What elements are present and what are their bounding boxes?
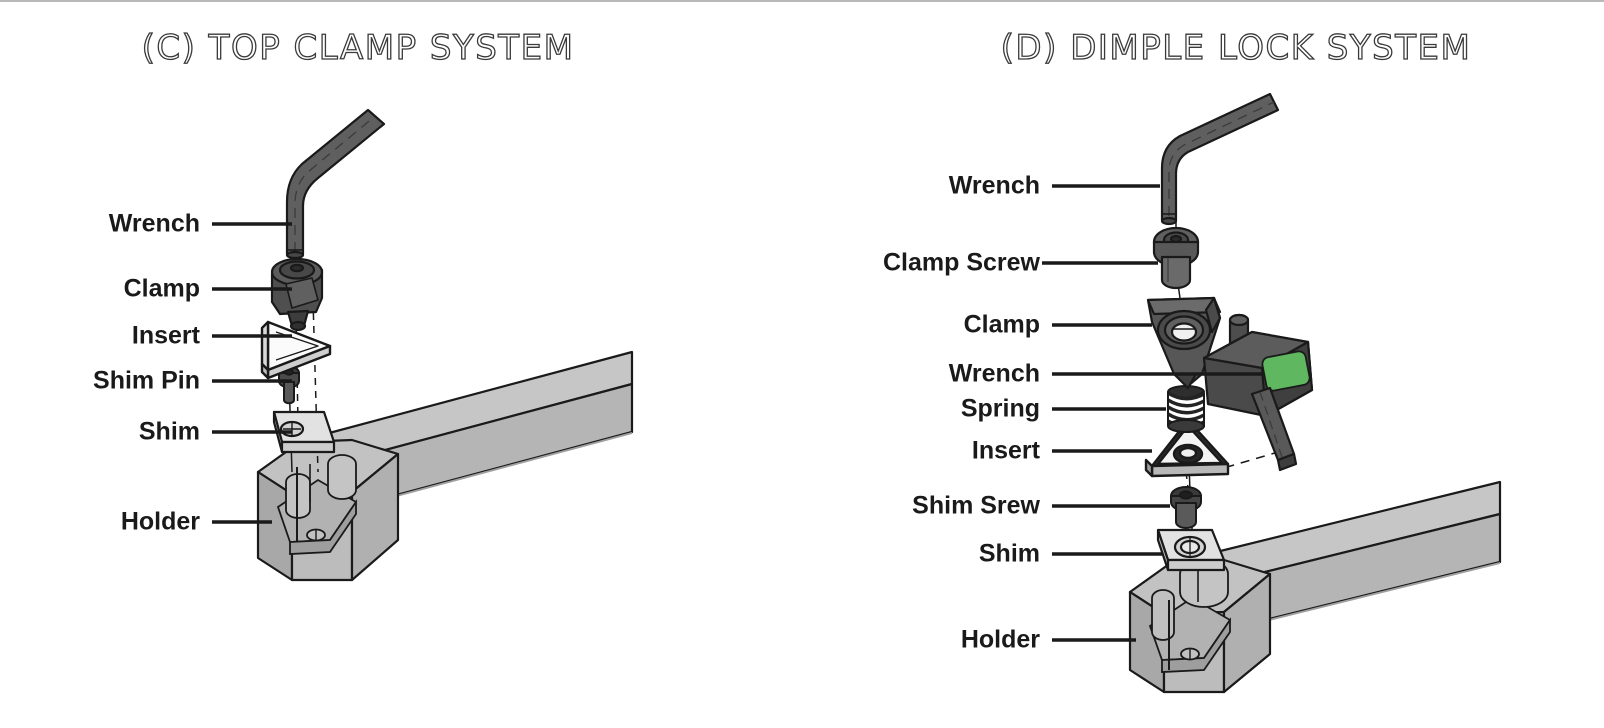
hex-wrench-bent xyxy=(287,110,384,258)
label-holder: Holder xyxy=(121,508,200,537)
label-holder: Holder xyxy=(961,626,1040,655)
diagram-canvas: (C) TOP CLAMP SYSTEM xyxy=(0,0,1604,728)
panel-c-artwork xyxy=(0,2,800,728)
shim xyxy=(1158,530,1224,570)
label-wrench: Wrench xyxy=(949,172,1040,201)
shim-screw xyxy=(1171,487,1201,528)
label-shim: Shim xyxy=(139,418,200,447)
label-clamp-screw: Clamp Screw xyxy=(883,249,1040,278)
label-clamp: Clamp xyxy=(964,311,1040,340)
label-insert: Insert xyxy=(972,437,1040,466)
panel-dimple-lock-system: (D) DIMPLE LOCK SYSTEM xyxy=(800,2,1604,728)
label-clamp: Clamp xyxy=(124,275,200,304)
green-label-inlay xyxy=(1261,350,1311,392)
hex-wrench-bent xyxy=(1162,94,1278,224)
top-clamp xyxy=(272,259,322,330)
label-wrench-2: Wrench xyxy=(949,360,1040,389)
label-shim: Shim xyxy=(979,540,1040,569)
label-wrench: Wrench xyxy=(109,210,200,239)
t-handle-wrench-green xyxy=(1204,315,1312,470)
label-spring: Spring xyxy=(961,395,1040,424)
panel-top-clamp-system: (C) TOP CLAMP SYSTEM xyxy=(0,2,800,728)
spring xyxy=(1168,386,1204,432)
label-shim-screw: Shim Srew xyxy=(912,492,1040,521)
label-insert: Insert xyxy=(132,322,200,351)
clamp-screw xyxy=(1154,228,1198,288)
label-shim-pin: Shim Pin xyxy=(93,367,200,396)
panel-d-artwork xyxy=(800,2,1604,728)
